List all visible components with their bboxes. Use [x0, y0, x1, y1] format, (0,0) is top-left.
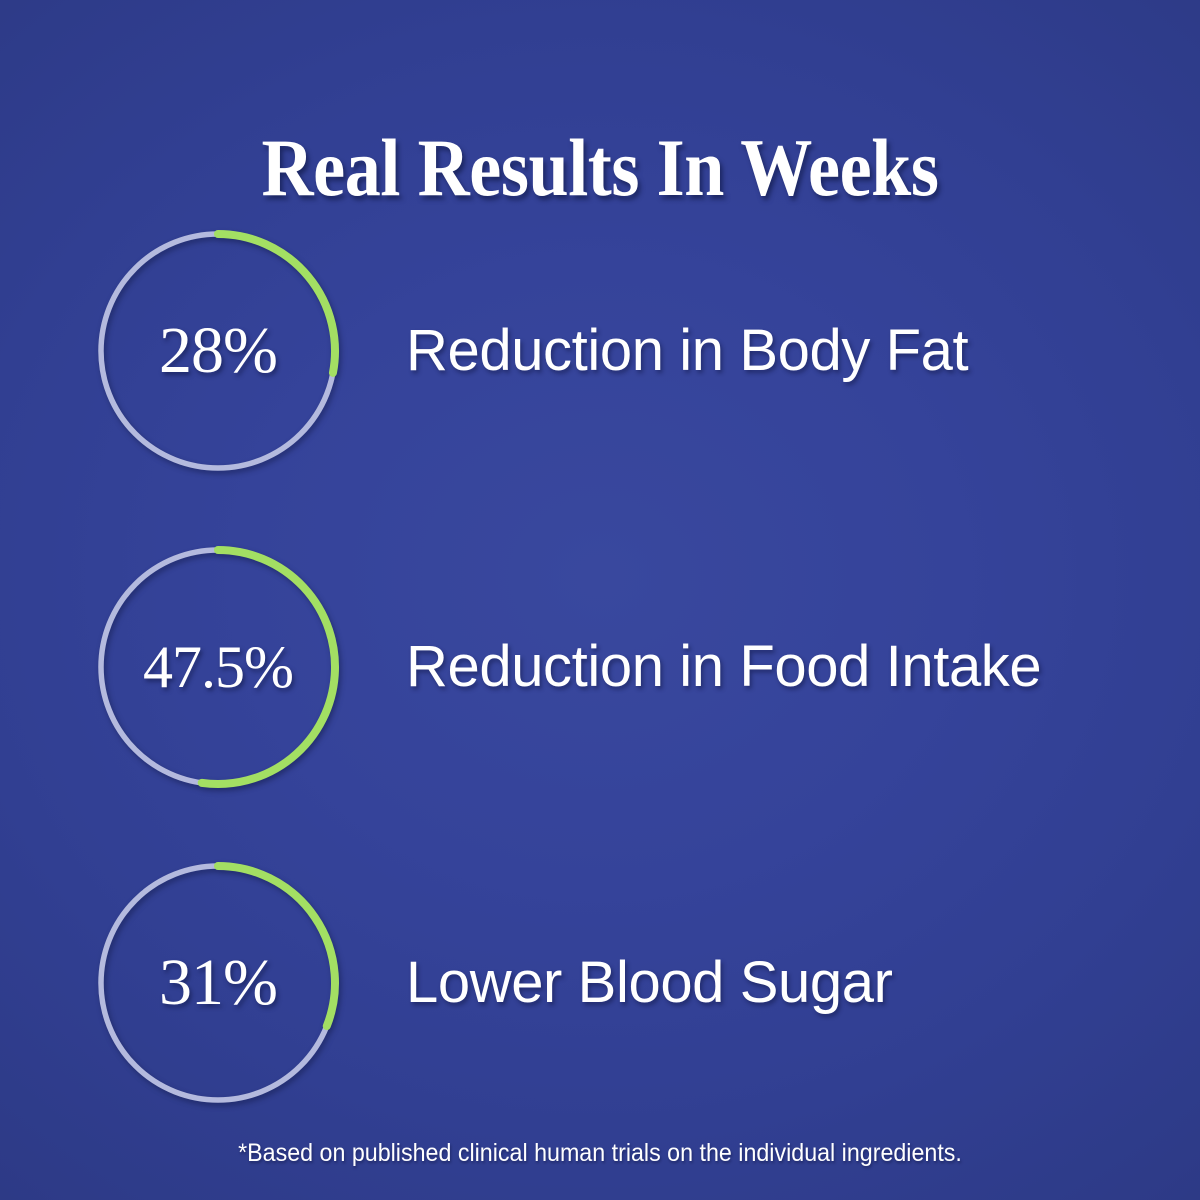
progress-ring-body-fat: 28%: [92, 225, 344, 477]
stat-row: 47.5% Reduction in Food Intake: [0, 538, 1200, 796]
page-title: Real Results In Weeks: [72, 127, 1128, 209]
progress-ring-blood-sugar: 31%: [92, 857, 344, 1109]
stat-label: Reduction in Body Fat: [406, 321, 968, 382]
ring-value-label: 31%: [92, 857, 344, 1109]
progress-ring-food-intake: 47.5%: [92, 541, 344, 793]
ring-value-label: 47.5%: [92, 541, 344, 793]
stats-list: 28% Reduction in Body Fat 47.5% Reductio…: [0, 222, 1200, 1170]
stat-label: Reduction in Food Intake: [406, 637, 1041, 698]
footnote-disclaimer: *Based on published clinical human trial…: [42, 1138, 1158, 1168]
results-poster: Real Results In Weeks 28% Reduction in B…: [0, 0, 1200, 1200]
stat-label: Lower Blood Sugar: [406, 953, 893, 1014]
stat-row: 28% Reduction in Body Fat: [0, 222, 1200, 480]
stat-row: 31% Lower Blood Sugar: [0, 854, 1200, 1112]
ring-value-label: 28%: [92, 225, 344, 477]
